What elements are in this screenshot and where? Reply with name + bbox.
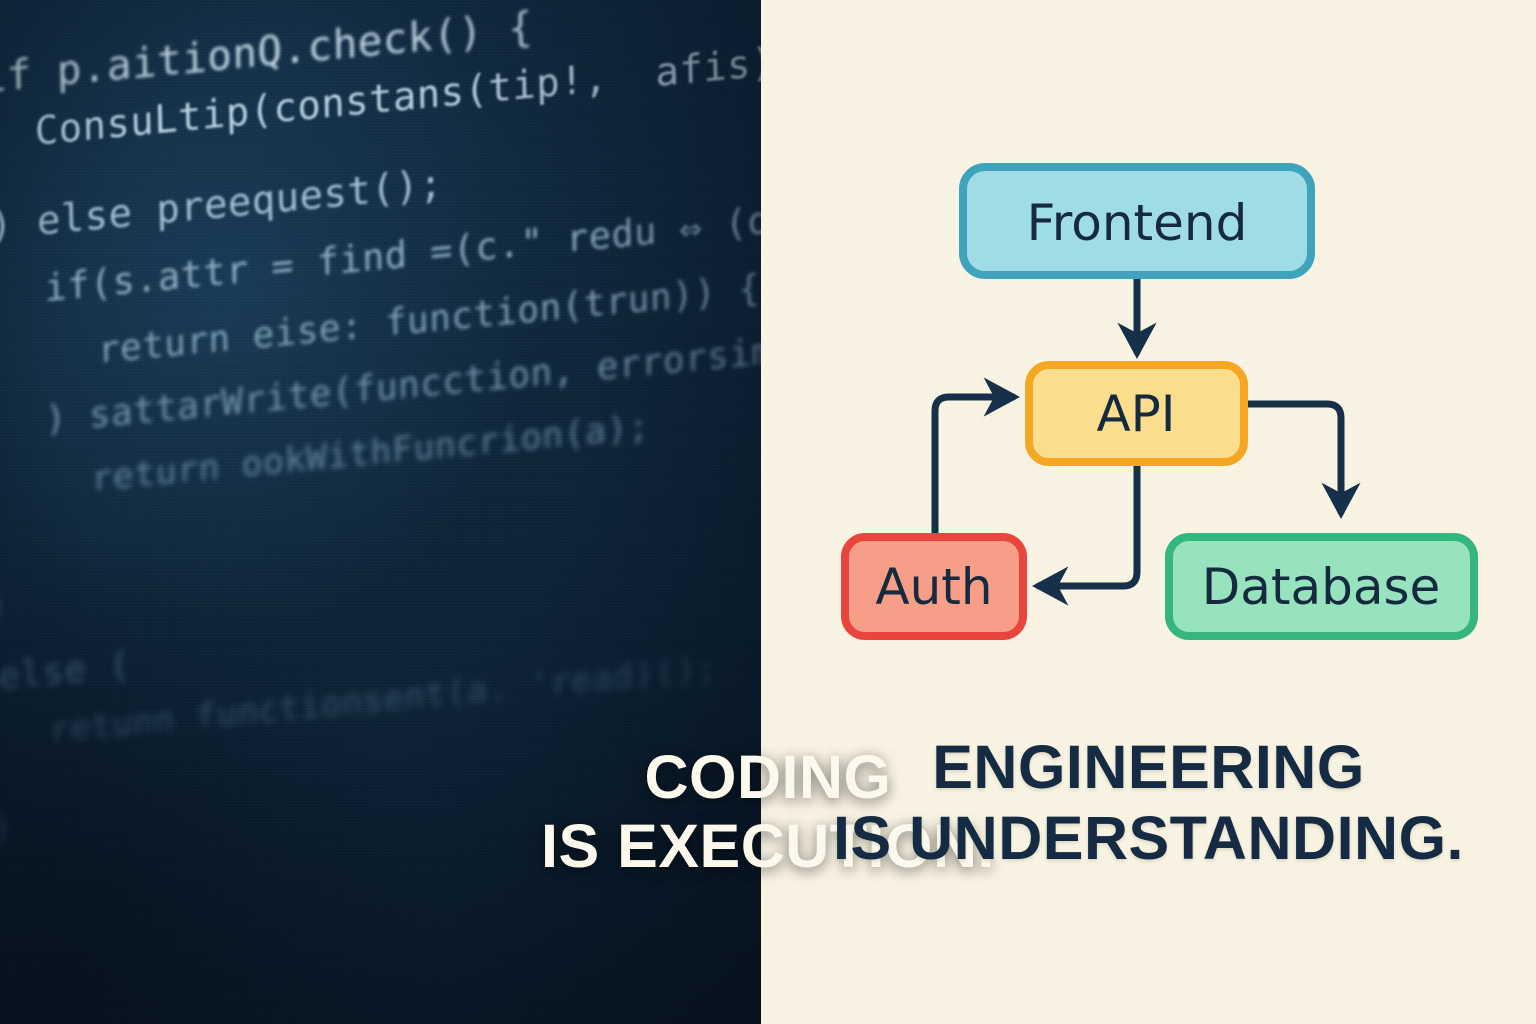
node-auth[interactable]: Auth bbox=[845, 537, 1023, 636]
node-api[interactable]: API bbox=[1029, 365, 1244, 462]
right-caption-line2: IS UNDERSTANDING. bbox=[761, 806, 1536, 871]
edge-api-to-auth bbox=[1039, 463, 1137, 586]
node-database[interactable]: Database bbox=[1169, 537, 1474, 636]
right-caption: ENGINEERING IS UNDERSTANDING. bbox=[761, 735, 1536, 870]
code-background: if p.aitionQ.check() { ConsuLtip(constan… bbox=[0, 0, 761, 832]
node-database-label: Database bbox=[1202, 558, 1441, 616]
code-line: retunn functionsent(a. 'read)(); bbox=[49, 648, 718, 751]
right-caption-line1: ENGINEERING bbox=[761, 735, 1536, 800]
code-line: ) bbox=[0, 584, 8, 629]
edge-api-to-database bbox=[1245, 404, 1341, 512]
split-comparison-image: if p.aitionQ.check() { ConsuLtip(constan… bbox=[0, 0, 1536, 1024]
node-api-label: API bbox=[1096, 385, 1175, 443]
node-frontend-label: Frontend bbox=[1027, 194, 1248, 252]
architecture-diagram: Frontend API Auth Database bbox=[761, 0, 1536, 700]
code-line: else ( bbox=[0, 645, 131, 699]
edge-auth-to-api bbox=[935, 397, 1013, 536]
node-auth-label: Auth bbox=[875, 558, 992, 616]
node-frontend[interactable]: Frontend bbox=[963, 167, 1311, 275]
